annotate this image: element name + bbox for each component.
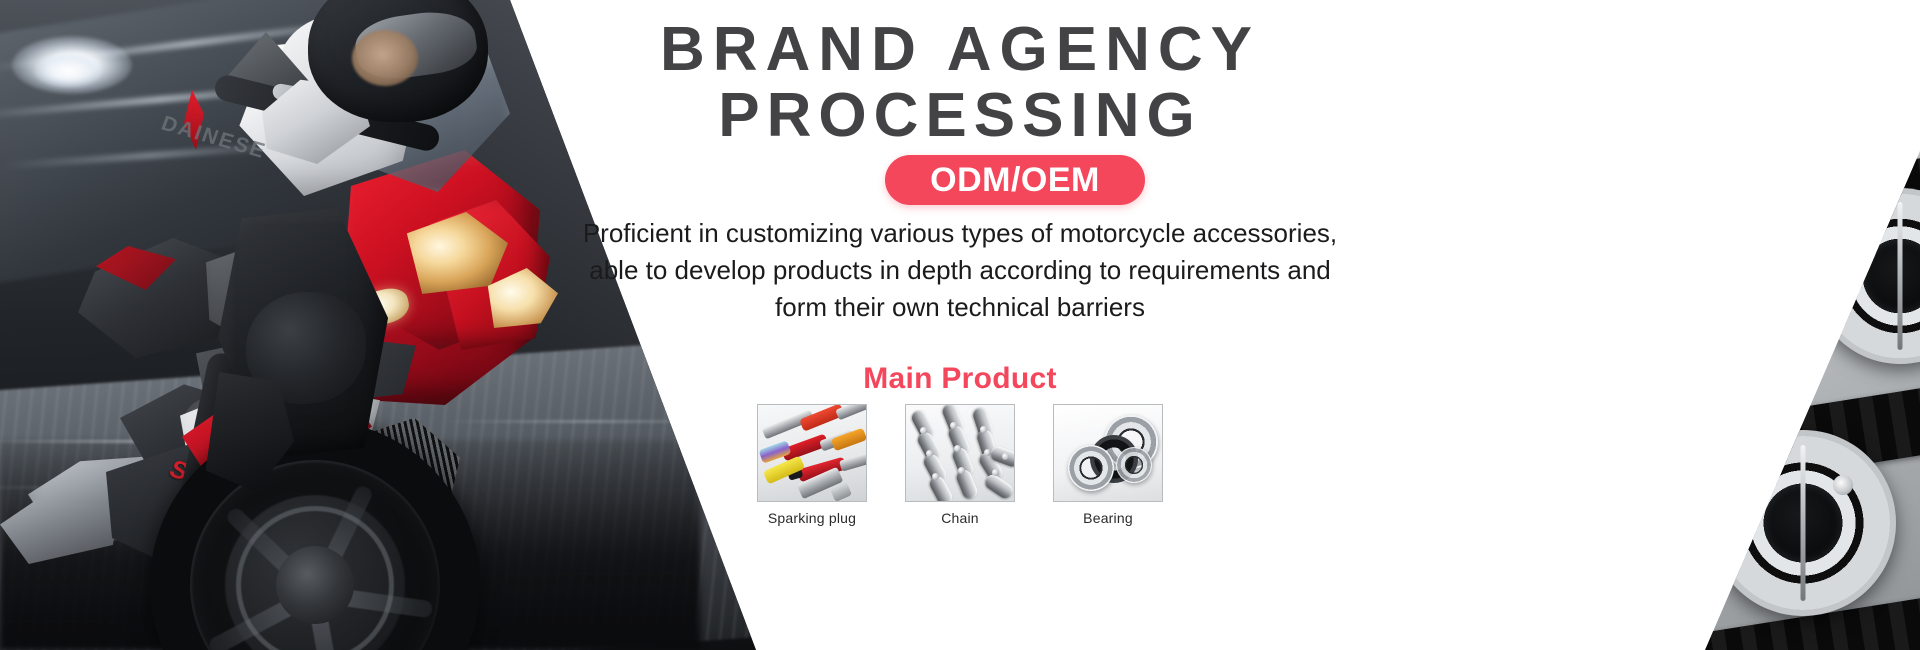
sparking-plug-thumbnail[interactable] xyxy=(757,404,867,502)
title-line-1: BRAND AGENCY xyxy=(660,15,1260,84)
alignment-rod xyxy=(1566,340,1581,398)
wheel-hub xyxy=(276,546,354,624)
alignment-rod xyxy=(1656,90,1671,148)
sprocket xyxy=(1780,0,1920,150)
sprocket xyxy=(1812,188,1920,364)
sprocket xyxy=(1468,456,1660,648)
product-item-sparking-plug[interactable]: Sparking plug xyxy=(757,404,867,526)
product-label: Sparking plug xyxy=(757,510,867,526)
alignment-rod xyxy=(1496,114,1511,172)
page-title: BRAND AGENCY PROCESSING xyxy=(500,18,1420,148)
main-product-list: Sparking plug xyxy=(500,404,1420,526)
product-label: Chain xyxy=(905,510,1015,526)
product-item-bearing[interactable]: Bearing xyxy=(1053,404,1163,526)
odm-oem-badge: ODM/OEM xyxy=(885,155,1145,205)
product-item-chain[interactable]: Chain xyxy=(905,404,1015,526)
alignment-rod xyxy=(1576,102,1591,160)
title-line-2: PROCESSING xyxy=(500,84,1420,148)
rider-face xyxy=(352,30,418,86)
brand-agency-banner: GSX 600R SUZUKI xyxy=(0,0,1920,650)
alignment-rod xyxy=(1476,354,1491,412)
sprocket xyxy=(1600,208,1782,390)
banner-description: Proficient in customizing various types … xyxy=(580,215,1340,326)
alignment-rod xyxy=(1666,326,1681,384)
sprocket xyxy=(1582,4,1742,164)
sprocket xyxy=(1710,430,1896,616)
bearing-thumbnail[interactable] xyxy=(1053,404,1163,502)
banner-content: BRAND AGENCY PROCESSING ODM/OEM Proficie… xyxy=(500,0,1420,650)
product-label: Bearing xyxy=(1053,510,1163,526)
alignment-rod xyxy=(1776,312,1791,370)
main-product-heading: Main Product xyxy=(500,362,1420,396)
exhaust-pipe-lower xyxy=(0,496,120,564)
chain-thumbnail[interactable] xyxy=(905,404,1015,502)
alignment-rod xyxy=(1756,78,1771,136)
